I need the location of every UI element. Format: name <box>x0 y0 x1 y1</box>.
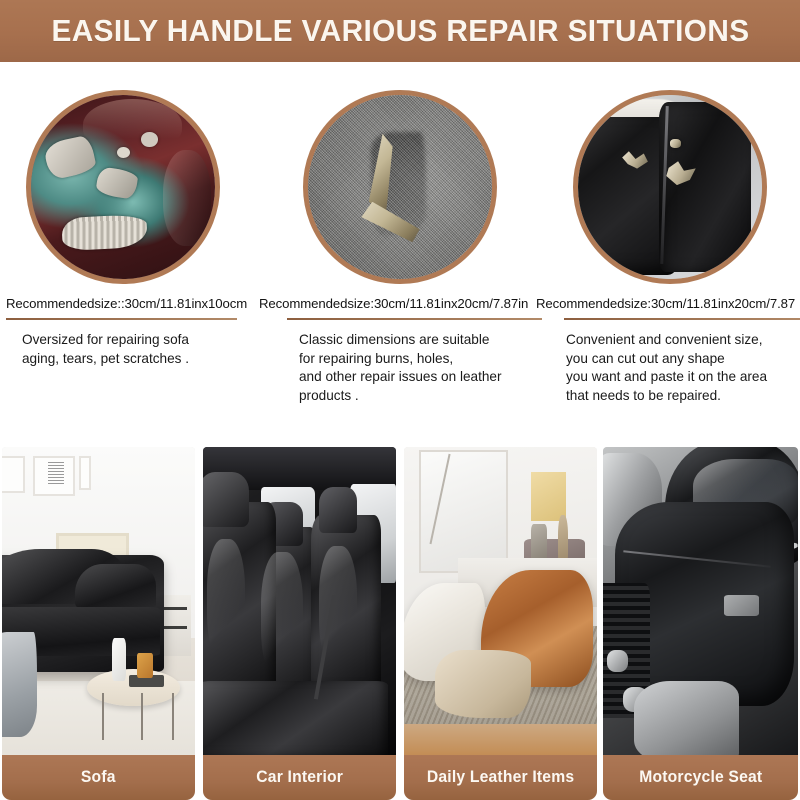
use-case-sofa: Sofa <box>2 447 195 800</box>
gray-fabric-torn-rip-image <box>303 90 497 284</box>
use-case-panels: Sofa <box>0 447 800 800</box>
recommended-size-label-2: Recommendedsize:30cm/11.81inx20cm/7.87in <box>259 296 555 311</box>
use-case-car-interior: Car Interior <box>203 447 396 800</box>
size-description-row: Recommendedsize::30cm/11.81inx10ocm Over… <box>0 296 800 436</box>
damage-example-3 <box>573 90 767 284</box>
damage-example-2 <box>303 90 497 284</box>
burgundy-leather-sofa-peeling-damage-image <box>26 90 220 284</box>
damage-example-1 <box>26 90 220 284</box>
damage-examples-row <box>0 62 800 294</box>
divider-3 <box>564 318 800 320</box>
header-banner: EASILY HANDLE VARIOUS REPAIR SITUATIONS <box>0 0 800 62</box>
living-room-black-leather-sofa-image <box>2 447 195 755</box>
feature-info-2: Recommendedsize:30cm/11.81inx20cm/7.87in… <box>259 296 555 405</box>
use-case-tab-car-interior[interactable]: Car Interior <box>203 755 396 800</box>
feature-info-1: Recommendedsize::30cm/11.81inx10ocm Over… <box>6 296 270 368</box>
use-case-tab-motorcycle-seat[interactable]: Motorcycle Seat <box>603 755 798 800</box>
divider-2 <box>287 318 542 320</box>
motorcycle-leather-seat-helmet-image <box>603 447 798 755</box>
recommended-size-label-3: Recommendedsize:30cm/11.81inx20cm/7.87 <box>536 296 800 311</box>
use-case-motorcycle-seat: Motorcycle Seat <box>603 447 798 800</box>
feature-description-2: Classic dimensions are suitable for repa… <box>299 331 555 405</box>
promo-page: EASILY HANDLE VARIOUS REPAIR SITUATIONS <box>0 0 800 800</box>
use-case-tab-sofa[interactable]: Sofa <box>2 755 195 800</box>
use-case-label-daily-leather-items: Daily Leather Items <box>427 768 574 787</box>
leather-bean-bag-chairs-image <box>404 447 597 755</box>
use-case-tab-daily-leather-items[interactable]: Daily Leather Items <box>404 755 597 800</box>
car-interior-leather-seats-image <box>203 447 396 755</box>
page-title: EASILY HANDLE VARIOUS REPAIR SITUATIONS <box>51 13 749 49</box>
feature-description-3: Convenient and convenient size, you can … <box>566 331 800 405</box>
feature-info-3: Recommendedsize:30cm/11.81inx20cm/7.87 C… <box>536 296 800 405</box>
use-case-daily-leather-items: Daily Leather Items <box>404 447 597 800</box>
recommended-size-label-1: Recommendedsize::30cm/11.81inx10ocm <box>6 296 270 311</box>
use-case-label-motorcycle-seat: Motorcycle Seat <box>639 768 762 787</box>
use-case-label-sofa: Sofa <box>81 768 116 787</box>
use-case-label-car-interior: Car Interior <box>256 768 343 787</box>
feature-description-1: Oversized for repairing sofa aging, tear… <box>22 331 270 368</box>
black-leather-sofa-corner-scratches-image <box>573 90 767 284</box>
divider-1 <box>6 318 237 320</box>
